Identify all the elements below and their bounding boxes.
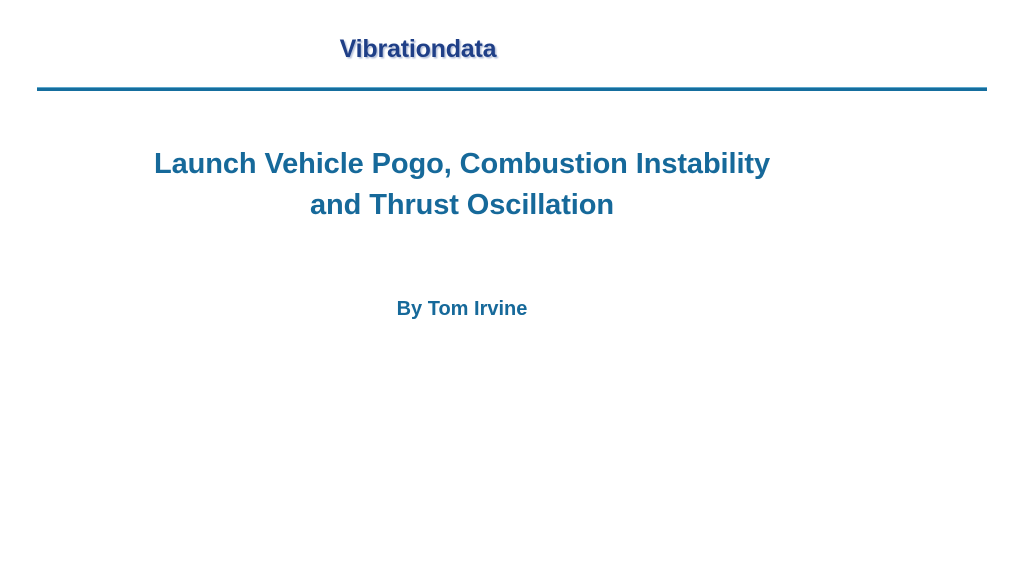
slide-title-line-2: and Thrust Oscillation	[0, 185, 924, 226]
vibrationdata-logo: Vibrationdata	[0, 34, 1024, 64]
slide-title-line-1: Launch Vehicle Pogo, Combustion Instabil…	[0, 144, 924, 185]
header-divider	[37, 87, 987, 92]
slide-content-area	[0, 340, 1024, 576]
title-slide: Vibrationdata Launch Vehicle Pogo, Combu…	[0, 0, 1024, 576]
slide-byline: By Tom Irvine	[0, 296, 1024, 322]
header-divider-body	[37, 88, 987, 91]
slide-title: Launch Vehicle Pogo, Combustion Instabil…	[0, 144, 1024, 226]
